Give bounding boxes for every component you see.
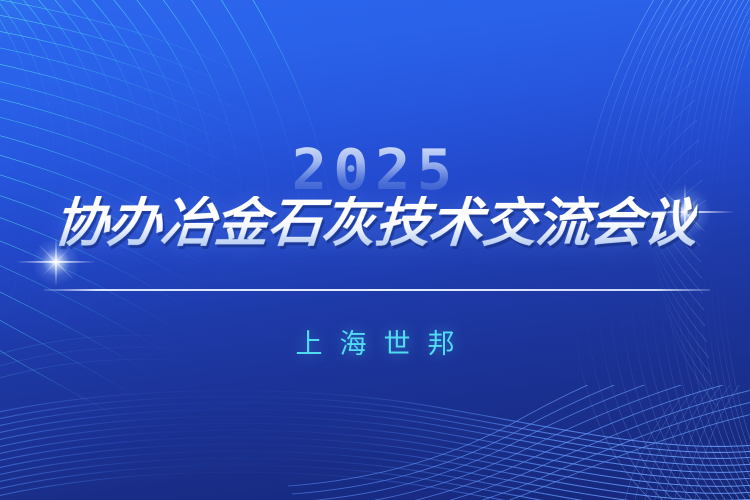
subtitle-text: 上海世邦: [0, 322, 750, 361]
divider-line: [44, 289, 710, 291]
page-title: 协办冶金石灰技术交流会议: [52, 196, 699, 252]
title-container: 协办冶金石灰技术交流会议: [0, 196, 750, 252]
conference-banner: 2025 协办冶金石灰技术交流会议 上海世邦: [0, 0, 750, 500]
year-text: 2025: [0, 143, 750, 199]
